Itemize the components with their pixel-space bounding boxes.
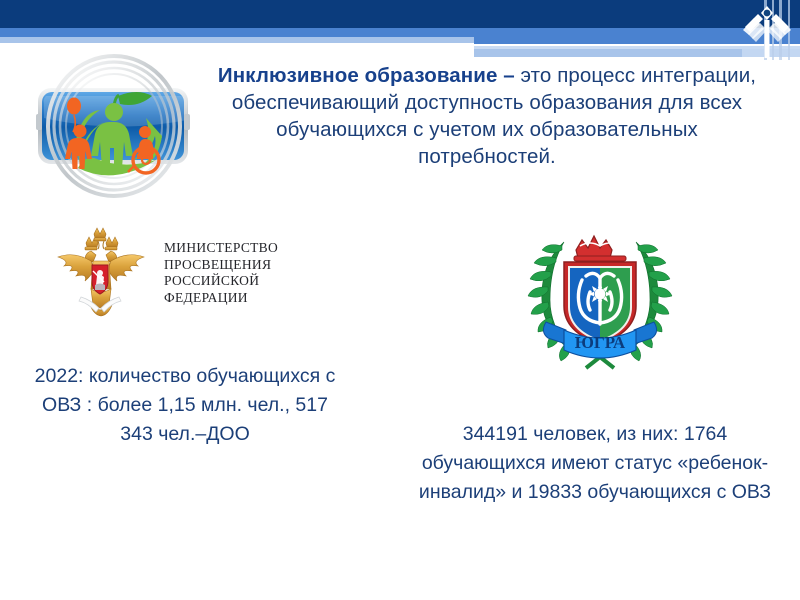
ministry-text-line: ПРОСВЕЩЕНИЯ [164,257,278,274]
header-band-navy [0,0,800,28]
header-band-light-left [0,37,474,43]
header-band-light-right-lower [474,49,742,57]
page-title: Инклюзивное образование – это процесс ин… [214,62,760,170]
russian-double-headed-eagle-icon [48,221,152,325]
ministry-text-line: РОССИЙСКОЙ [164,273,278,290]
page-title-lead: Инклюзивное образование – [218,64,515,87]
yugra-coat-of-arms-icon: ЮГРА [520,218,680,373]
ministry-text-line: МИНИСТЕРСТВО [164,240,278,257]
education-emblem-icon [736,2,798,58]
ministry-text-line: ФЕДЕРАЦИИ [164,290,278,307]
inclusive-education-logo [22,48,204,200]
yugra-banner-text: ЮГРА [575,333,626,352]
header-band-medium-left [0,28,474,37]
stat-left-text: 2022: количество обучающихся с ОВЗ : бол… [30,362,340,449]
ministry-logo: МИНИСТЕРСТВО ПРОСВЕЩЕНИЯ РОССИЙСКОЙ ФЕДЕ… [48,218,324,328]
stat-right-text: 344191 человек, из них: 1764 обучающихся… [400,420,790,507]
ministry-logo-text: МИНИСТЕРСТВО ПРОСВЕЩЕНИЯ РОССИЙСКОЙ ФЕДЕ… [164,240,278,306]
